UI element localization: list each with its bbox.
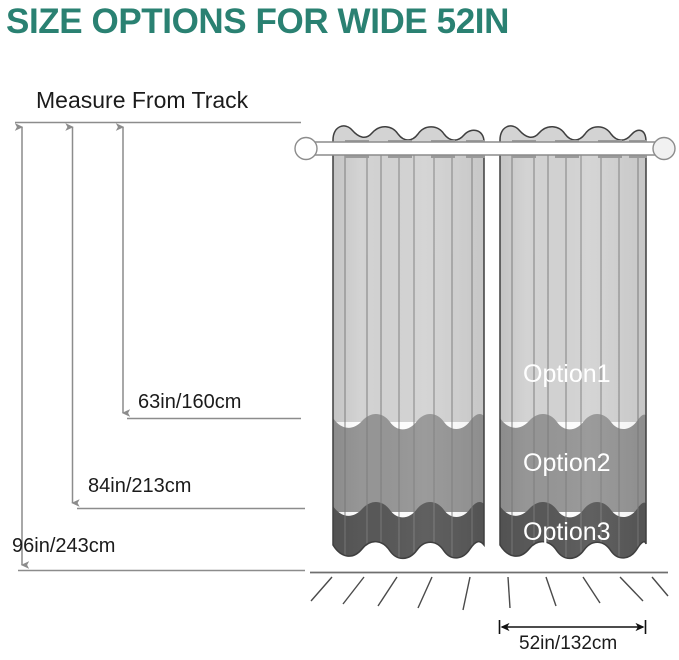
dimension-label-96in: 96in/243cm bbox=[12, 534, 115, 558]
option-label-1: Option1 bbox=[523, 360, 611, 388]
option-label-3: Option3 bbox=[523, 518, 611, 546]
curtain-panel-right bbox=[500, 126, 647, 572]
floor bbox=[310, 573, 668, 611]
curtain-panel-left bbox=[333, 126, 485, 572]
size-options-diagram: SIZE OPTIONS FOR WIDE 52IN Measure From … bbox=[0, 0, 679, 660]
floor-hatching bbox=[311, 577, 668, 610]
option-label-2: Option2 bbox=[523, 449, 611, 477]
curtains-layer bbox=[0, 0, 679, 660]
rod-finial-left bbox=[295, 138, 317, 160]
rod-finial-right bbox=[653, 138, 675, 160]
dimension-label-52in: 52in/132cm bbox=[519, 632, 617, 656]
dimension-label-84in: 84in/213cm bbox=[88, 474, 191, 498]
dimension-label-63in: 63in/160cm bbox=[138, 390, 241, 414]
